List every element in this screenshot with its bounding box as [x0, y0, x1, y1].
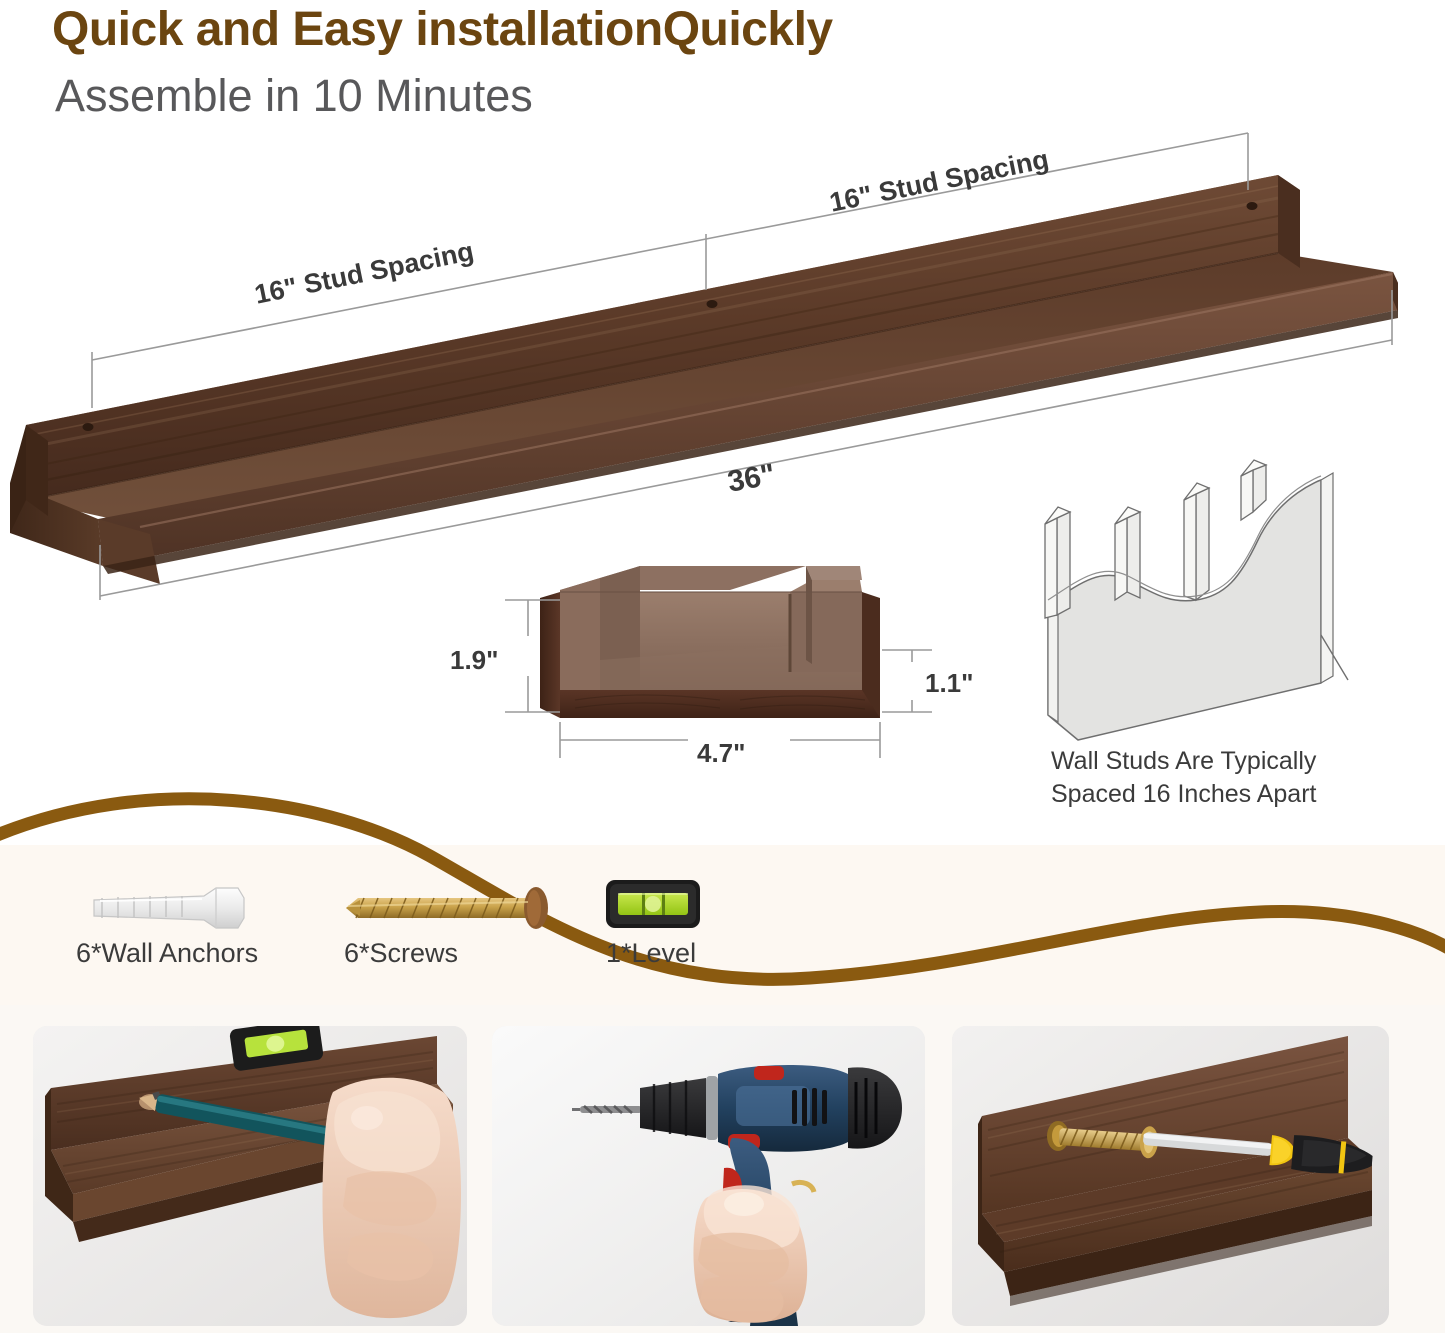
cross-section-width-label: 4.7" — [697, 738, 745, 769]
mark-holes-photo — [33, 1026, 467, 1326]
wall-stud-caption: Wall Studs Are Typically Spaced 16 Inche… — [1051, 745, 1381, 811]
wall-stud-caption-line2: Spaced 16 Inches Apart — [1051, 778, 1381, 811]
hardware-label-level: 1*Level — [606, 938, 696, 969]
page-subtitle: Assemble in 10 Minutes — [55, 70, 533, 122]
page-title: Quick and Easy installationQuickly — [52, 2, 833, 57]
background-cream — [0, 845, 1445, 1025]
cross-section-height-label: 1.9" — [450, 645, 498, 676]
hardware-label-wall-anchors: 6*Wall Anchors — [76, 938, 258, 969]
infographic-canvas: Quick and Easy installationQuickly Assem… — [0, 0, 1445, 1333]
drill-holes-photo — [492, 1026, 925, 1326]
hardware-label-screws: 6*Screws — [344, 938, 458, 969]
cross-section-lip-height-label: 1.1" — [925, 668, 973, 699]
background-top — [0, 0, 1445, 845]
screw-shelf-photo — [952, 1026, 1389, 1326]
wall-stud-caption-line1: Wall Studs Are Typically — [1051, 745, 1381, 778]
